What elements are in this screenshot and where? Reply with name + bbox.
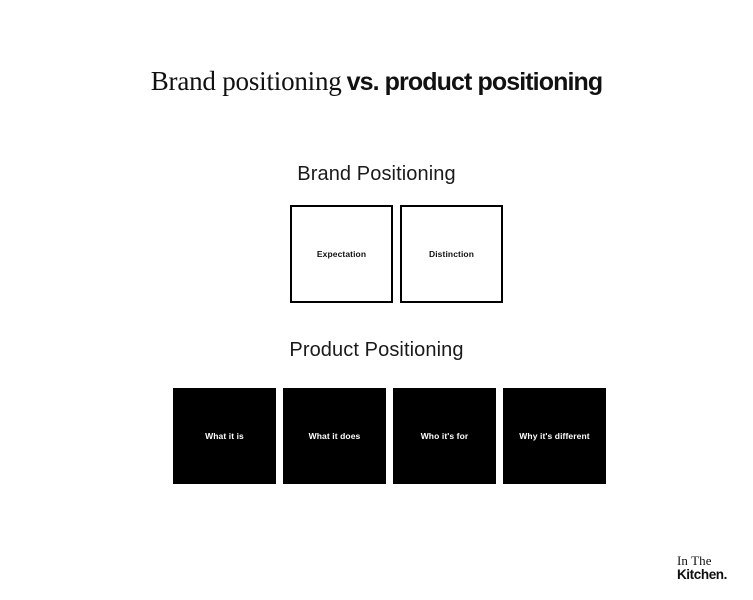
page-title-serif-part: Brand positioning — [151, 66, 342, 96]
product-positioning-heading: Product Positioning — [0, 340, 753, 360]
brand-positioning-card: Expectation — [290, 205, 393, 303]
product-positioning-card: What it is — [173, 388, 276, 484]
product-positioning-card-row: What it is What it does Who it's for Why… — [173, 388, 606, 484]
product-positioning-card-label: What it is — [205, 431, 244, 441]
brand-positioning-card-label: Expectation — [317, 249, 366, 259]
brand-logo-line-one: In The — [677, 554, 727, 568]
brand-logo: In The Kitchen. — [677, 554, 727, 582]
brand-positioning-card-row: Expectation Distinction — [290, 205, 503, 303]
product-positioning-card: Who it's for — [393, 388, 496, 484]
page-title-bold-part: vs. product positioning — [347, 68, 603, 96]
page-title: Brand positioningvs. product positioning — [0, 68, 753, 95]
brand-positioning-card-label: Distinction — [429, 249, 474, 259]
slide-canvas: Brand positioningvs. product positioning… — [0, 0, 753, 600]
brand-positioning-card: Distinction — [400, 205, 503, 303]
brand-positioning-heading: Brand Positioning — [0, 164, 753, 184]
brand-logo-line-two: Kitchen. — [677, 568, 727, 582]
product-positioning-card-label: What it does — [309, 431, 361, 441]
product-positioning-card: Why it's different — [503, 388, 606, 484]
product-positioning-card-label: Why it's different — [519, 431, 589, 441]
product-positioning-card-label: Who it's for — [421, 431, 469, 441]
product-positioning-card: What it does — [283, 388, 386, 484]
